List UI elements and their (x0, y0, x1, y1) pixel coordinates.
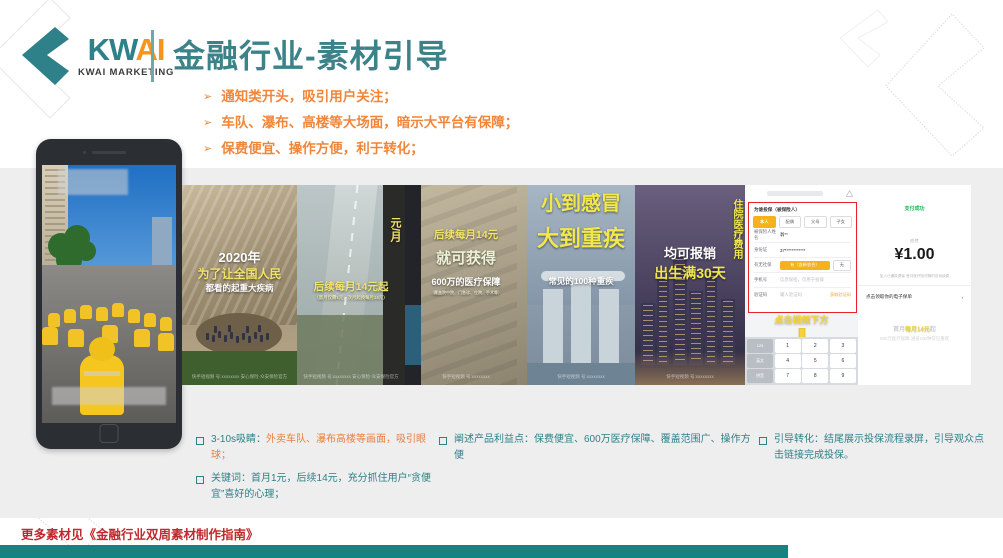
top-bullet-list: ➢ 通知类开头，吸引用户关注； ➢ 车队、瀑布、高楼等大场面，暗示大平台有保障；… (203, 88, 518, 166)
kwai-tagline: KWAI MARKETING (78, 67, 174, 78)
kwai-wordmark: KWAI KWAI MARKETING (78, 34, 174, 78)
thumb-caption: 出生满30天 (635, 263, 745, 283)
arrow-bullet-icon: ➢ (203, 114, 212, 132)
field-id-number[interactable]: 身份证 37************ (754, 243, 851, 258)
field-insured-name[interactable]: 被保险人姓名 翁** (754, 228, 851, 243)
front-camera-icon (83, 151, 86, 154)
bullet-column-3: 引导转化：结尾展示投保流程录屏，引导观众点击链接完成投保。 (759, 432, 986, 510)
bottom-bullet-item: 关键词：首月1元，后续14元，充分抓住用户“贪便宜”喜好的心理； (196, 471, 439, 503)
form-highlight-box: 为谁投保（被保险人） 本人 配偶 父母 子女 被保险人姓名 翁** 身份证 37… (748, 202, 857, 313)
key-7[interactable]: 7 (775, 369, 801, 383)
home-button[interactable] (100, 424, 119, 443)
thumb-caption: 600万的医疗保障 (405, 275, 527, 288)
video-rider-fleet (42, 303, 176, 423)
field-phone[interactable]: 手机号 信息保密，仅用于投保 (754, 273, 851, 288)
numeric-keypad[interactable]: 123 1 2 3 英文 4 5 6 拼音 7 8 9 (745, 337, 858, 385)
top-bullet-item: ➢ 通知类开头，吸引用户关注； (203, 88, 518, 106)
top-bullet-item: ➢ 车队、瀑布、高楼等大场面，暗示大平台有保障； (203, 114, 518, 132)
form-section-title: 为谁投保（被保险人） (749, 203, 856, 216)
top-bullet-text: 车队、瀑布、高楼等大场面，暗示大平台有保障； (221, 114, 518, 132)
thumb-watermark: 快手短视频 号:xxxxxxxx (527, 374, 635, 381)
thumb-caption-big: 大到重疾 (527, 221, 635, 253)
field-value: 37************ (780, 248, 851, 253)
thumb-side-text: 元/月 (387, 217, 403, 242)
thumb-caption: 2020年 (182, 247, 297, 266)
key-9b[interactable]: 9 (830, 369, 856, 383)
warning-triangle-icon (846, 190, 853, 197)
bullet-column-2: 阐述产品利益点：保费便宜、600万医疗保障、覆盖范围广、操作方便 (439, 432, 759, 510)
arrow-bullet-icon: ➢ (203, 140, 212, 158)
kwai-name-part1: KW (88, 32, 136, 67)
bottom-bullet-text: 阐述产品利益点：保费便宜、600万医疗保障、覆盖范围广、操作方便 (454, 432, 759, 464)
key-2[interactable]: 2 (802, 339, 828, 353)
video-blur-overlay (58, 169, 128, 195)
key-pinyin[interactable]: 拼音 (747, 369, 773, 383)
phone-mockup (36, 139, 182, 449)
thumbnail-flood[interactable]: 2020年 为了让全国人民 都看的起重大疾病 快手短视频 号:xxxxxxxx … (182, 185, 297, 385)
field-label: 验证码 (754, 292, 780, 298)
thumbnail-strip: 2020年 为了让全国人民 都看的起重大疾病 快手短视频 号:xxxxxxxx … (182, 185, 971, 385)
tab-spouse[interactable]: 配偶 (779, 216, 802, 228)
title-divider (151, 30, 154, 82)
get-code-button[interactable]: 获取验证码 (830, 292, 851, 298)
bottom-bullet-columns: 3-10s吸睛：外卖车队、瀑布高楼等画面，吸引眼球； 关键词：首月1元，后续14… (196, 432, 986, 510)
chevron-decor-top-right-large (880, 10, 995, 160)
page-title: 金融行业-素材引导 (173, 33, 449, 79)
key-6[interactable]: 6 (830, 354, 856, 368)
form-header-bar (745, 185, 858, 203)
field-value: 翁** (780, 232, 851, 238)
foot-suffix: 起 (930, 327, 936, 333)
footer-bar (0, 545, 788, 558)
square-bullet-icon (196, 476, 204, 484)
field-verify-code[interactable]: 验证码 输入验证码 获取验证码 (754, 288, 851, 302)
square-bullet-icon (759, 437, 767, 445)
key-123[interactable]: 123 (747, 339, 773, 353)
bottom-bullet-text: 关键词：首月1元，后续14元，充分抓住用户“贪便宜”喜好的心理； (211, 471, 439, 503)
thumb-caption: 后续每月14元起 (297, 279, 405, 294)
thumb-caption: 都看的起重大疾病 (182, 282, 297, 294)
thumb-cta-text: 点击视频下方 (745, 313, 858, 326)
kwai-chevron-icon (18, 25, 70, 87)
foot-highlight: 每月14元 (905, 327, 930, 333)
thumbnail-city-towers[interactable]: 小到感冒 大到重疾 常见的100种重疾 快手短视频 号:xxxxxxxx (527, 185, 635, 385)
payment-foot-sub: 600万医疗保障·涵盖100种常见重疾 (858, 336, 971, 342)
key-5[interactable]: 5 (802, 354, 828, 368)
slide-root: KWAI KWAI MARKETING 金融行业-素材引导 ➢ 通知类开头，吸引… (0, 0, 1003, 558)
chevron-right-icon: › (961, 295, 963, 300)
bottom-bullet-item: 引导转化：结尾展示投保流程录屏，引导观众点击链接完成投保。 (759, 432, 986, 464)
earpiece-speaker (92, 151, 126, 154)
video-foreground-rider (80, 355, 124, 415)
bottom-bullet-text: 引导转化：结尾展示投保流程录屏，引导观众点击链接完成投保。 (774, 432, 986, 464)
tab-children[interactable]: 子女 (830, 216, 853, 228)
thumb-caption: 后续每月14元 (405, 227, 527, 242)
thumb-caption-sub: （首月仅需1元，次月起按每月14元） (297, 295, 405, 301)
top-bullet-item: ➢ 保费便宜、操作方便，利于转化； (203, 140, 518, 158)
thumbnail-dam[interactable]: 后续每月14元 就可获得 600万的医疗保障 （覆盖院中院、门急诊、住院、手术等… (405, 185, 527, 385)
tab-parents[interactable]: 父母 (804, 216, 827, 228)
thumbnail-payment-success[interactable]: 支付成功 应付 ¥1.00 加入已通投退保·首月医疗险可随时自动续费 点击领取你… (858, 185, 971, 385)
option-has-social[interactable]: 有（含新农合） (780, 261, 830, 270)
bottom-bullet-item: 3-10s吸睛：外卖车队、瀑布高楼等画面，吸引眼球； (196, 432, 439, 464)
field-label: 被保险人姓名 (754, 229, 780, 241)
field-placeholder: 信息保密，仅用于投保 (780, 277, 851, 283)
field-label: 手机号 (754, 277, 780, 283)
tab-self[interactable]: 本人 (753, 216, 776, 228)
key-8[interactable]: 8 (802, 369, 828, 383)
bottom-bullet-item: 阐述产品利益点：保费便宜、600万医疗保障、覆盖范围广、操作方便 (439, 432, 759, 464)
insured-relation-tabs[interactable]: 本人 配偶 父母 子女 (749, 216, 856, 228)
arrow-bullet-icon: ➢ (203, 88, 212, 106)
thumb-caption: 均可报销 (635, 243, 745, 262)
thumb-watermark: 快手短视频 号:xxxxxxxx (635, 374, 745, 381)
field-social-insurance[interactable]: 有无社保 有（含新农合） 无 (754, 258, 851, 273)
amount-value: ¥1.00 (858, 246, 971, 264)
option-no-social[interactable]: 无 (833, 260, 851, 271)
key-1[interactable]: 1 (775, 339, 801, 353)
thumb-caption-sub: （覆盖院中院、门急诊、住院、手术等） (405, 290, 527, 296)
thumb-watermark: 快手短视频 号:xxxxxxxx 安心保险·众安保险官方 (297, 374, 405, 381)
footer-note: 更多素材见《金融行业双周素材制作指南》 (21, 524, 259, 543)
thumbnail-insurance-form[interactable]: 为谁投保（被保险人） 本人 配偶 父母 子女 被保险人姓名 翁** 身份证 37… (745, 185, 858, 385)
bottom-bullet-text: 3-10s吸睛：外卖车队、瀑布高楼等画面，吸引眼球； (211, 432, 439, 464)
key-4[interactable]: 4 (775, 354, 801, 368)
video-blur-overlay (52, 387, 166, 405)
receipt-row[interactable]: 点击领取你的电子保单 › (858, 286, 971, 300)
key-3[interactable]: 3 (830, 339, 856, 353)
thumbnail-night-skyline[interactable]: 住院医疗费用 均可报销 出生满30天 快手短视频 号:xxxxxxxx (635, 185, 745, 385)
field-label: 有无社保 (754, 262, 780, 268)
phone-screen-video[interactable] (42, 165, 176, 423)
thumb-caption: 就可获得 (405, 247, 527, 268)
chevron-decor-top-right-small (830, 5, 900, 75)
dam-water-edge (405, 305, 421, 365)
thumb-caption: 为了让全国人民 (182, 265, 297, 282)
thumb-caption: 常见的100种重疾 (527, 275, 635, 287)
square-bullet-icon (439, 437, 447, 445)
key-9[interactable]: 英文 (747, 354, 773, 368)
thumb-watermark: 快手短视频 号:xxxxxxxx (405, 374, 527, 381)
thumb-caption-big: 小到感冒 (527, 187, 635, 216)
top-bullet-text: 保费便宜、操作方便，利于转化； (221, 140, 424, 158)
top-bullet-text: 通知类开头，吸引用户关注； (221, 88, 397, 106)
bullet-column-1: 3-10s吸睛：外卖车队、瀑布高楼等画面，吸引眼球； 关键词：首月1元，后续14… (196, 432, 439, 510)
form-title-placeholder (767, 191, 823, 196)
foot-prefix: 首月 (893, 327, 905, 333)
receipt-label: 点击领取你的电子保单 (866, 294, 912, 300)
field-placeholder: 输入验证码 (780, 292, 830, 298)
payment-foot-caption: 首月每月14元起 (858, 324, 971, 333)
payment-status: 支付成功 (858, 205, 971, 212)
field-label: 身份证 (754, 247, 780, 253)
flood-crowd (202, 317, 276, 347)
thumb-watermark: 快手短视频 号:xxxxxxxx 安心保险·众安保险官方 (182, 374, 297, 381)
square-bullet-icon (196, 437, 204, 445)
amount-label: 应付 (858, 238, 971, 244)
thumbnail-highway[interactable]: 元/月 后续每月14元起 （首月仅需1元，次月起按每月14元） 快手短视频 号:… (297, 185, 405, 385)
payment-note: 加入已通投退保·首月医疗险可随时自动续费 (858, 274, 971, 286)
